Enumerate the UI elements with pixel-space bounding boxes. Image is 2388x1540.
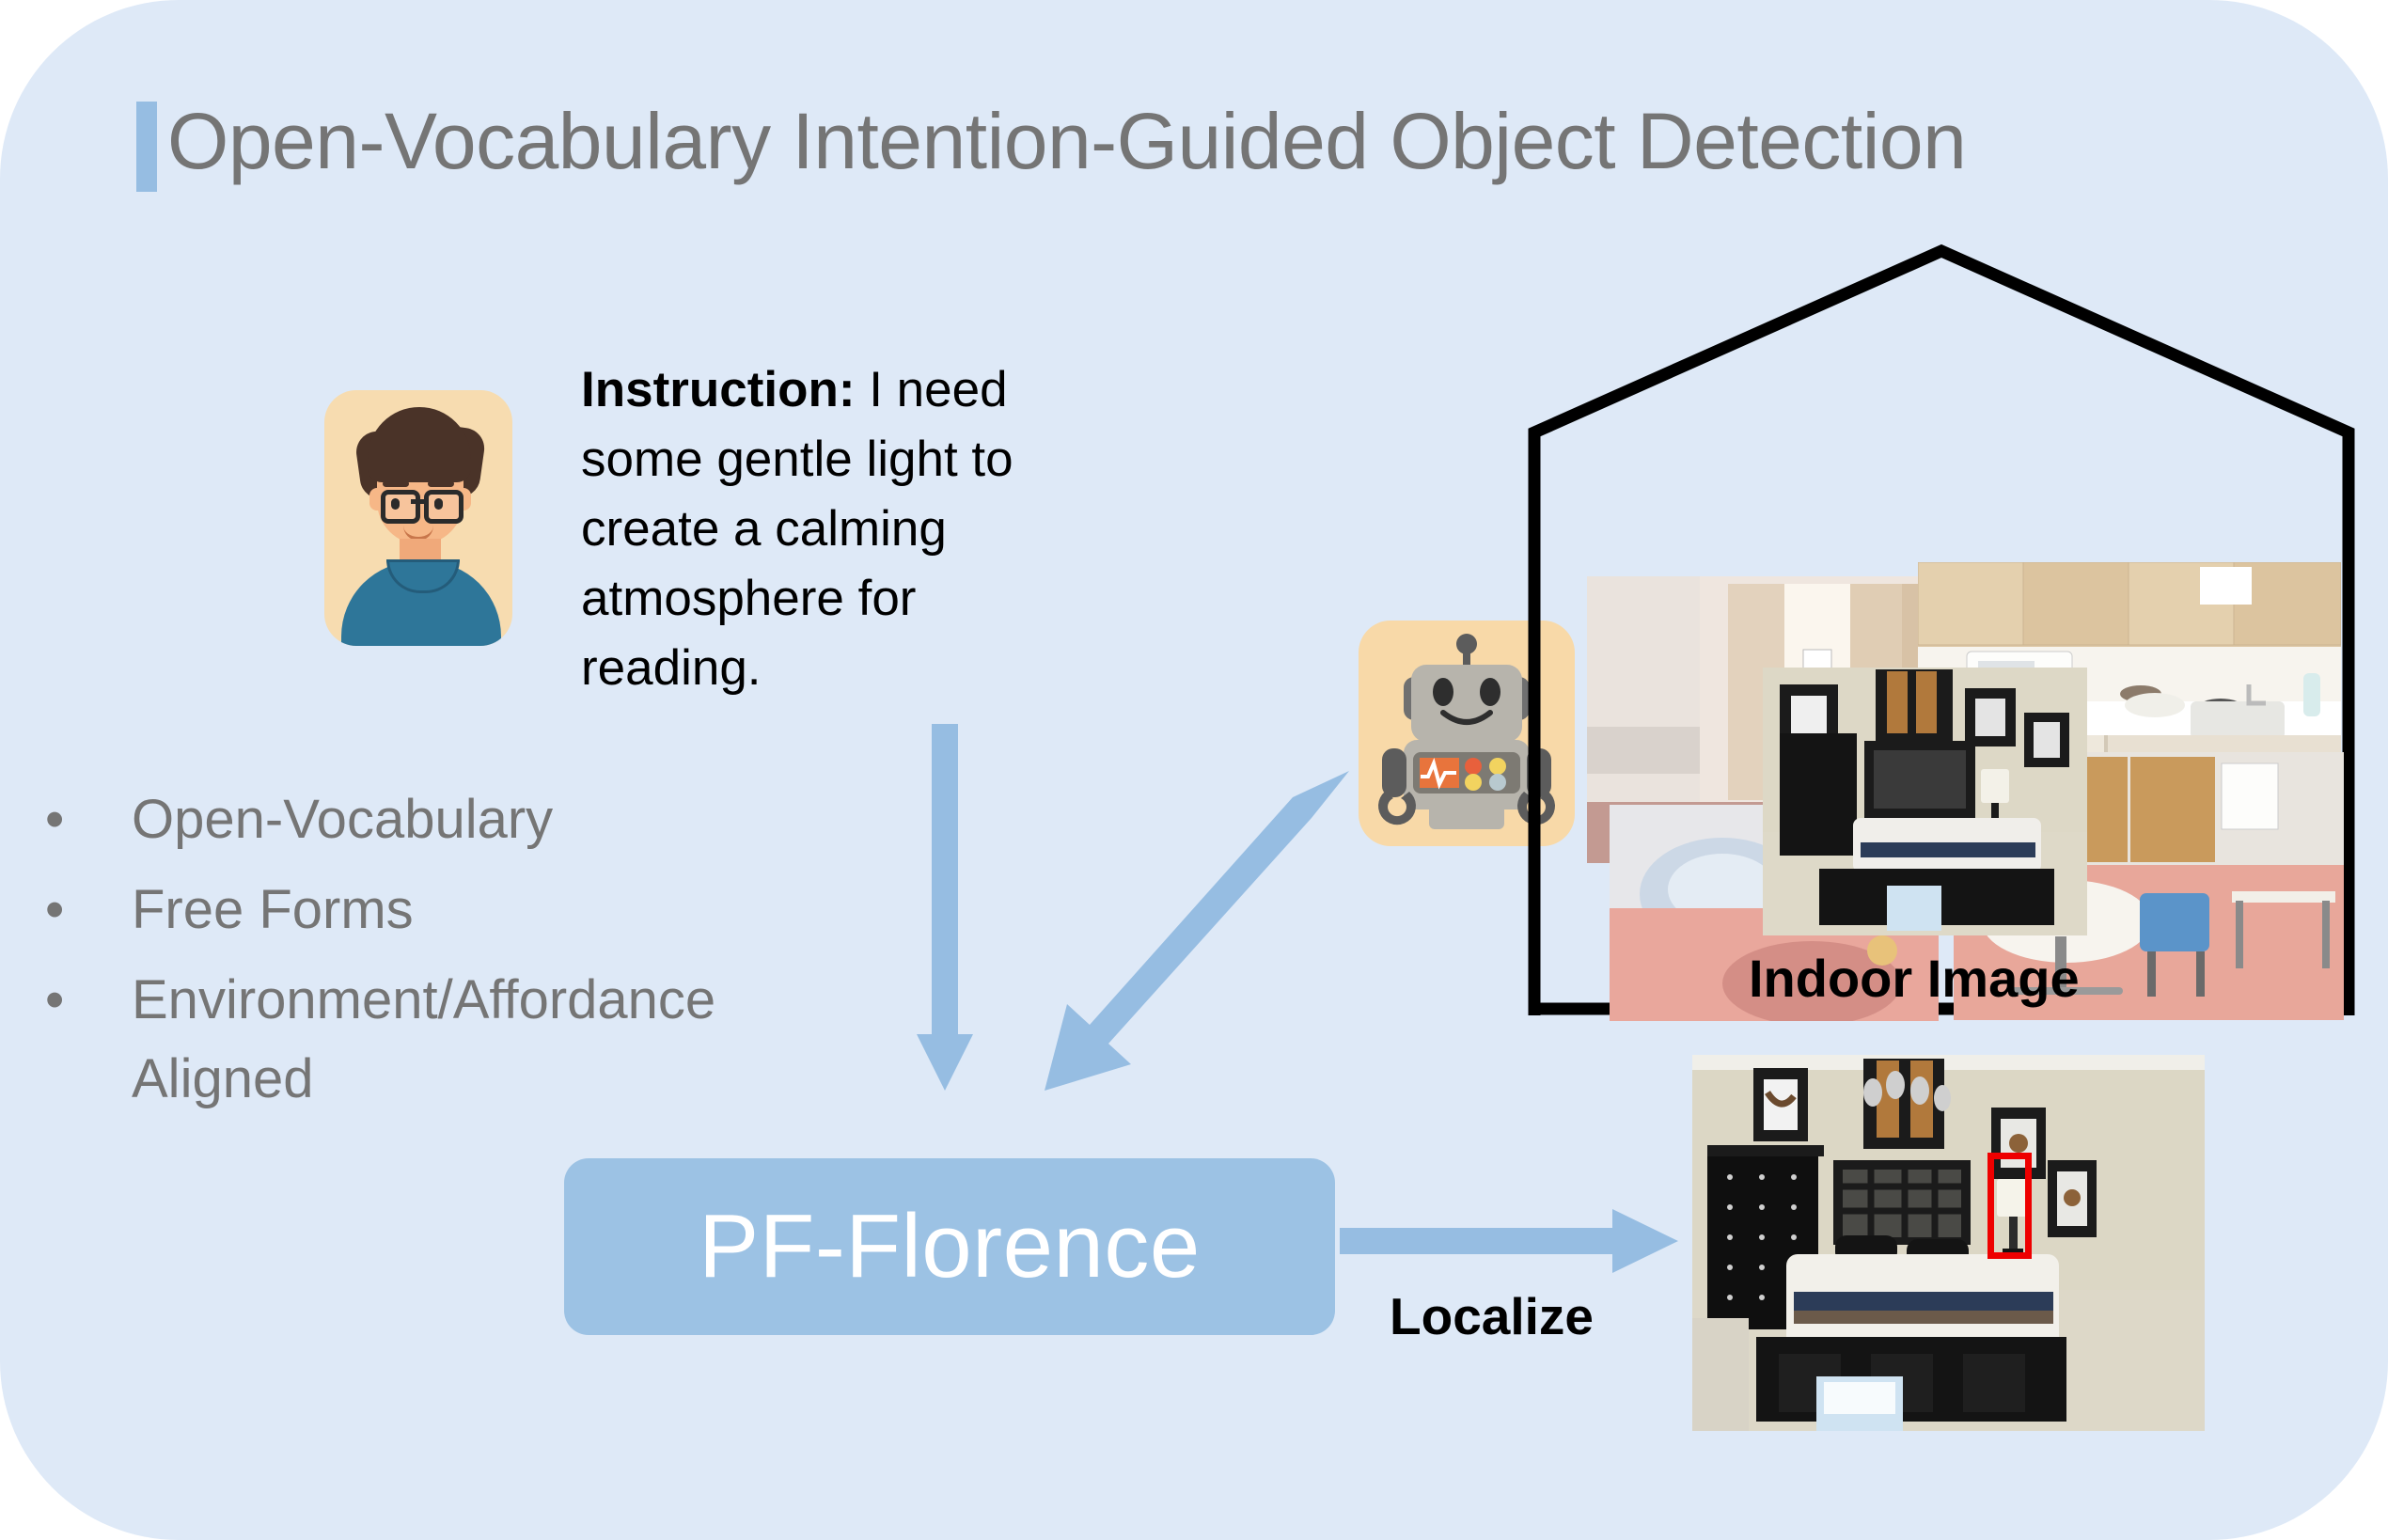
arrow-robot-to-model [1011, 771, 1349, 1091]
feature-list: • Open-Vocabulary • Free Forms • Environ… [28, 780, 987, 1130]
person-avatar-icon [324, 390, 512, 646]
page-title: Open-Vocabulary Intention-Guided Object … [167, 89, 1966, 193]
model-box[interactable]: PF-Florence [564, 1158, 1335, 1335]
list-item: • Environment/Affordance Aligned [28, 961, 987, 1119]
list-item: • Free Forms [28, 871, 987, 950]
poster-panel: Open-Vocabulary Intention-Guided Object … [0, 0, 2388, 1540]
detection-bounding-box [1987, 1153, 2032, 1259]
model-name-label: PF-Florence [699, 1200, 1201, 1294]
bedroom-detection-photo [1692, 1055, 2205, 1431]
list-item-label: Free Forms [132, 871, 414, 950]
bedroom-photo [1763, 668, 2087, 935]
list-item-label: Environment/Affordance Aligned [132, 961, 733, 1119]
arrow-model-to-output [1340, 1203, 1678, 1279]
list-item-label: Open-Vocabulary [132, 780, 553, 859]
list-item: • Open-Vocabulary [28, 780, 987, 859]
localize-label: Localize [1390, 1286, 1594, 1346]
instruction-text: Instruction: I need some gentle light to… [581, 355, 1108, 703]
bullet-icon: • [28, 871, 132, 950]
bullet-icon: • [28, 961, 132, 1040]
house-label: Indoor Image [1749, 948, 2080, 1009]
bullet-icon: • [28, 780, 132, 859]
instruction-label: Instruction: [581, 362, 855, 417]
arrow-instruction-to-model [917, 724, 973, 1091]
title-accent-bar [136, 102, 157, 192]
